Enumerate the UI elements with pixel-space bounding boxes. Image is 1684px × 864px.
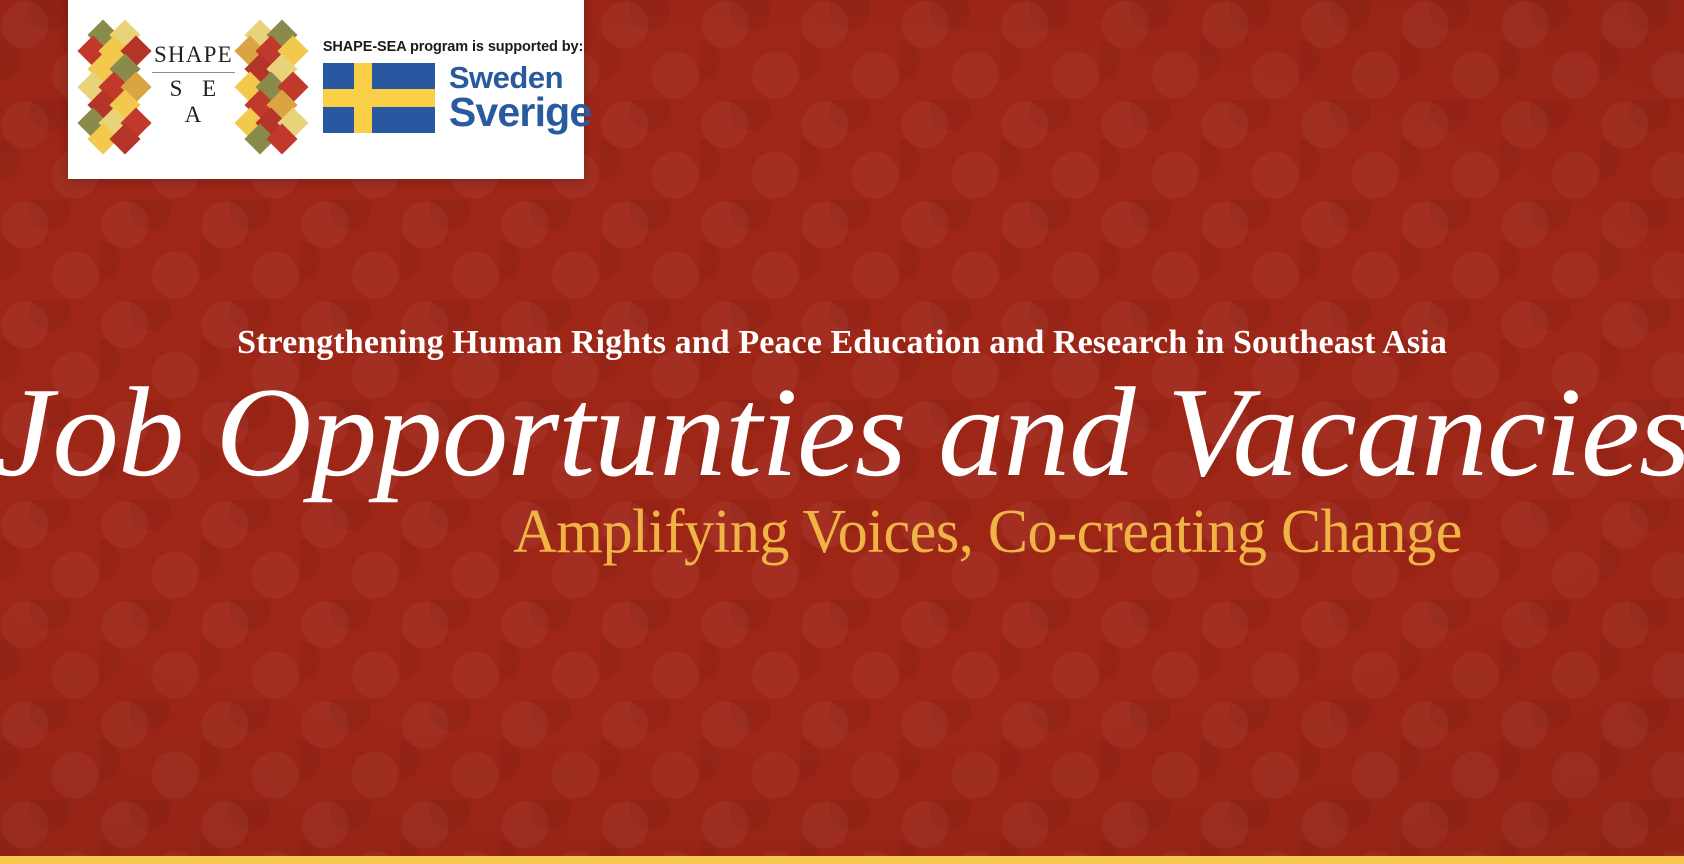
sweden-logo: Sweden Sverige — [323, 63, 592, 133]
page-subtitle: Amplifying Voices, Co-creating Change — [25, 500, 1658, 565]
wordmark-divider — [152, 72, 236, 73]
logo-card: SHAPE S E A — [68, 0, 584, 179]
shape-word: SHAPE — [150, 42, 238, 68]
shape-sea-wordmark: SHAPE S E A — [150, 42, 238, 128]
bottom-accent-bar — [0, 856, 1684, 864]
sea-word: S E A — [150, 76, 238, 129]
supported-by-label: SHAPE-SEA program is supported by: — [323, 39, 583, 55]
sweden-flag-icon — [323, 63, 435, 133]
weave-pattern-right-icon — [243, 22, 301, 150]
sweden-label-sv: Sverige — [449, 93, 592, 133]
weave-pattern-left-icon — [86, 22, 144, 150]
funder-block: SHAPE-SEA program is supported by: Swede… — [323, 39, 592, 133]
program-tagline: Strengthening Human Rights and Peace Edu… — [0, 324, 1684, 361]
sweden-wordmark: Sweden Sverige — [449, 63, 592, 133]
headline-block: Strengthening Human Rights and Peace Edu… — [0, 324, 1684, 565]
shape-sea-logo: SHAPE S E A — [86, 20, 301, 152]
job-vacancies-banner: SHAPE S E A — [0, 0, 1684, 864]
page-title: Job Opportunties and Vacancies — [0, 367, 1684, 498]
